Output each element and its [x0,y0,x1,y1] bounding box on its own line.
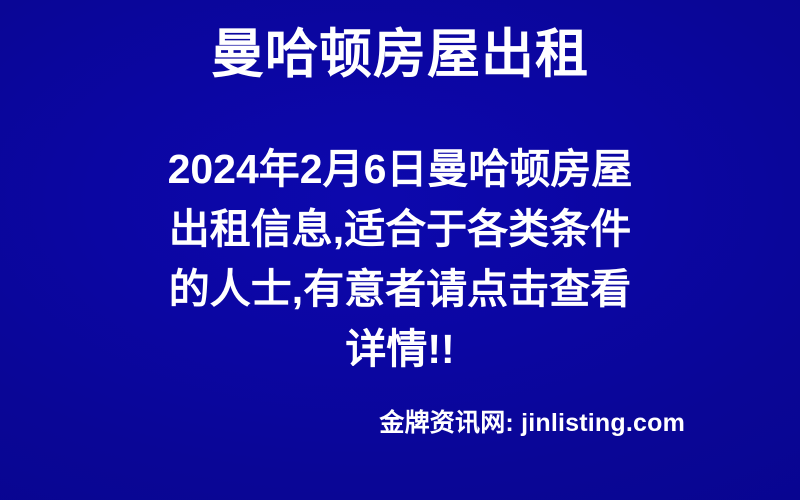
poster-body-line-2: 出租信息,适合于各类条件 [0,199,800,259]
poster-footer: 金牌资讯网: jinlisting.com [0,408,800,438]
poster-body-line-4: 详情!! [0,319,800,379]
poster-body-line-1: 2024年2月6日曼哈顿房屋 [0,139,800,199]
rental-ad-poster: 曼哈顿房屋出租 2024年2月6日曼哈顿房屋 出租信息,适合于各类条件 的人士,… [0,0,800,500]
poster-title: 曼哈顿房屋出租 [0,26,800,84]
poster-body-line-3: 的人士,有意者请点击查看 [0,259,800,319]
site-credit-text: 金牌资讯网: jinlisting.com [379,408,685,438]
poster-title-text: 曼哈顿房屋出租 [211,26,589,84]
poster-body: 2024年2月6日曼哈顿房屋 出租信息,适合于各类条件 的人士,有意者请点击查看… [0,139,800,379]
